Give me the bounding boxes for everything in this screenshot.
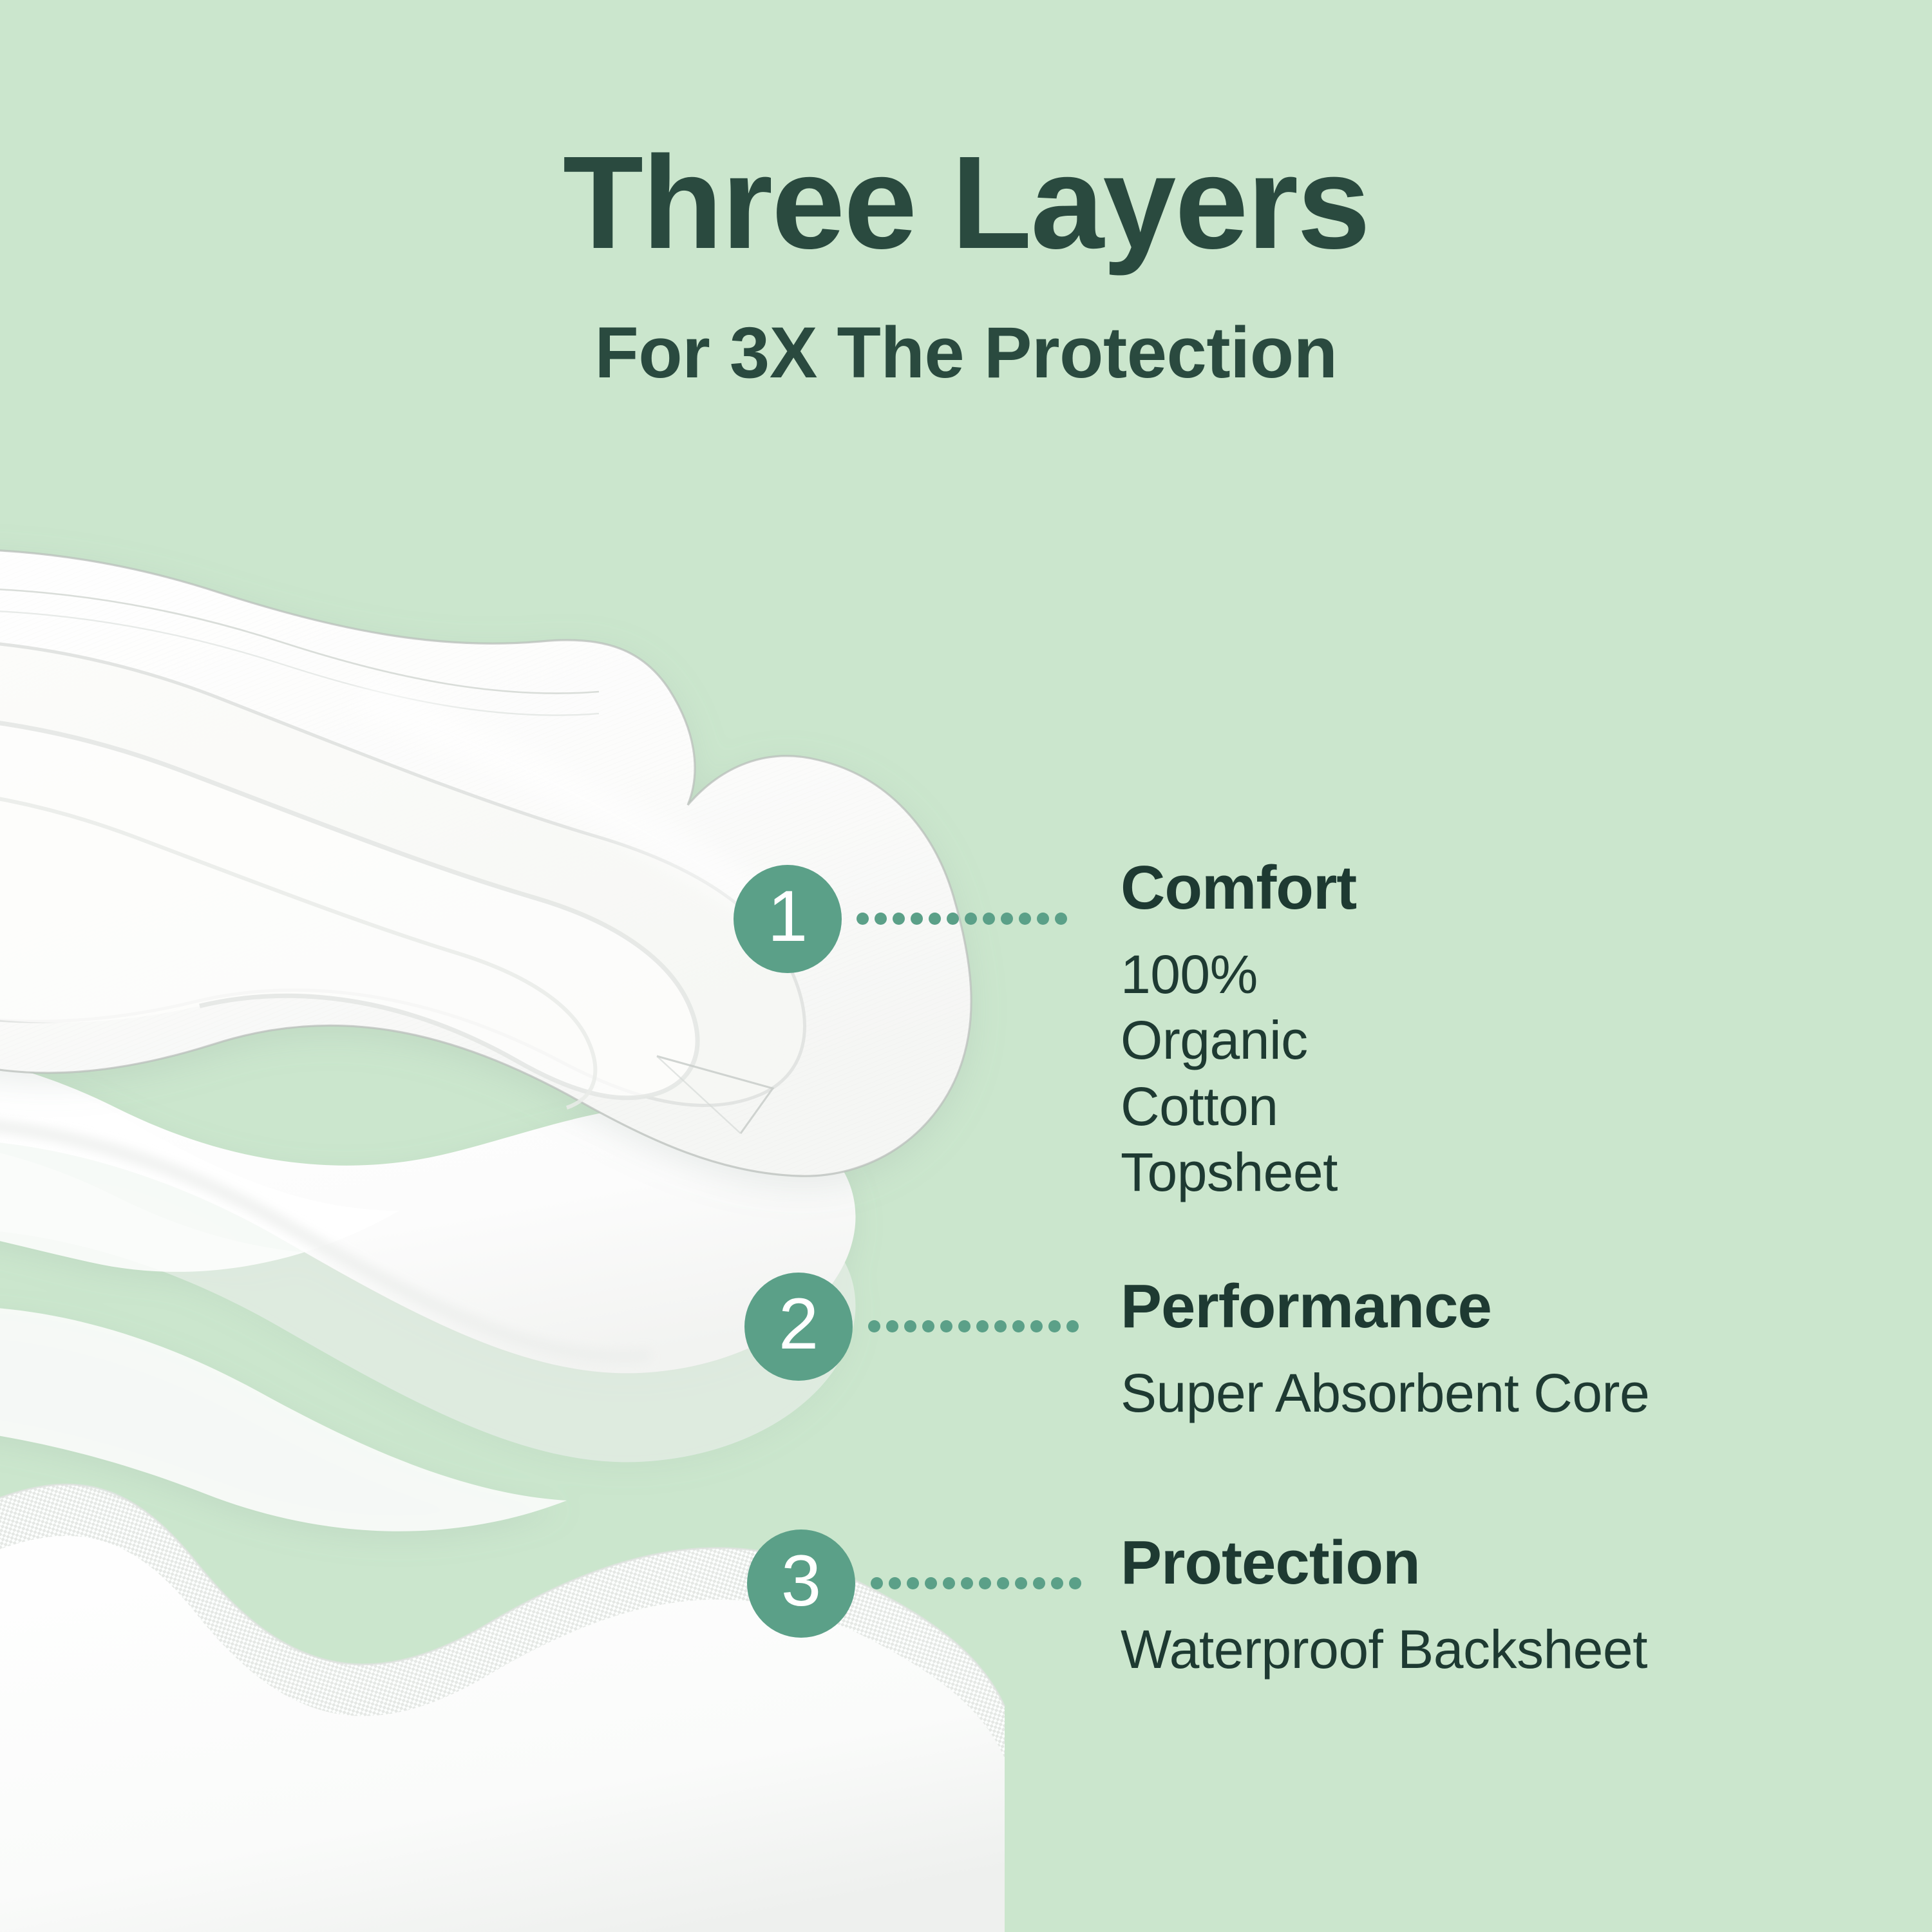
connector-dot <box>929 913 941 925</box>
callout-desc-3: Waterproof Backsheet <box>1121 1616 1647 1682</box>
connector-dot <box>961 1577 973 1589</box>
connector-dot <box>1019 913 1031 925</box>
layer-topsheet-shape <box>0 549 971 1177</box>
connector-dot <box>958 1320 971 1332</box>
callout-title-2: Performance <box>1121 1275 1649 1338</box>
callout-desc-1: 100% Organic Cotton Topsheet <box>1121 942 1356 1206</box>
connector-dot <box>997 1577 1009 1589</box>
connector-dot <box>1001 913 1013 925</box>
header-block: Three Layers For 3X The Protection <box>0 0 1932 389</box>
badge-number-2[interactable]: 2 <box>744 1273 853 1381</box>
infographic-canvas: Three Layers For 3X The Protection 1 Com… <box>0 0 1932 1932</box>
connector-dot <box>907 1577 919 1589</box>
connector-dot <box>857 913 869 925</box>
connector-dot <box>868 1320 880 1332</box>
connector-dot <box>1048 1320 1061 1332</box>
connector-dots-3 <box>871 1577 1081 1589</box>
connector-dot <box>1033 1577 1045 1589</box>
connector-dot <box>947 913 959 925</box>
connector-dot <box>979 1577 991 1589</box>
connector-dot <box>886 1320 898 1332</box>
callout-title-3: Protection <box>1121 1531 1647 1595</box>
connector-dot <box>911 913 923 925</box>
connector-dots-1 <box>857 913 1067 925</box>
callout-title-1: Comfort <box>1121 857 1356 920</box>
connector-dot <box>976 1320 989 1332</box>
connector-dot <box>1051 1577 1063 1589</box>
connector-dot <box>965 913 977 925</box>
connector-dot <box>943 1577 955 1589</box>
connector-dots-2 <box>868 1320 1079 1332</box>
callout-text-3: Protection Waterproof Backsheet <box>1121 1531 1647 1682</box>
connector-dot <box>1030 1320 1043 1332</box>
callout-text-2: Performance Super Absorbent Core <box>1121 1275 1649 1426</box>
connector-dot <box>1066 1320 1079 1332</box>
connector-dot <box>922 1320 934 1332</box>
layer-backsheet-shape <box>0 1484 1005 1932</box>
connector-dot <box>871 1577 883 1589</box>
callout-text-1: Comfort 100% Organic Cotton Topsheet <box>1121 857 1356 1206</box>
badge-number-1[interactable]: 1 <box>734 865 842 973</box>
connector-dot <box>904 1320 916 1332</box>
page-title: Three Layers <box>0 137 1932 269</box>
connector-dot <box>994 1320 1007 1332</box>
connector-dot <box>1037 913 1049 925</box>
connector-dot <box>1055 913 1067 925</box>
connector-dot <box>940 1320 952 1332</box>
connector-dot <box>983 913 995 925</box>
connector-dot <box>925 1577 937 1589</box>
connector-dot <box>893 913 905 925</box>
callout-desc-2: Super Absorbent Core <box>1121 1360 1649 1426</box>
badge-number-3[interactable]: 3 <box>747 1529 855 1638</box>
connector-dot <box>875 913 887 925</box>
connector-dot <box>1012 1320 1025 1332</box>
page-subtitle: For 3X The Protection <box>0 317 1932 389</box>
connector-dot <box>889 1577 901 1589</box>
connector-dot <box>1015 1577 1027 1589</box>
connector-dot <box>1069 1577 1081 1589</box>
